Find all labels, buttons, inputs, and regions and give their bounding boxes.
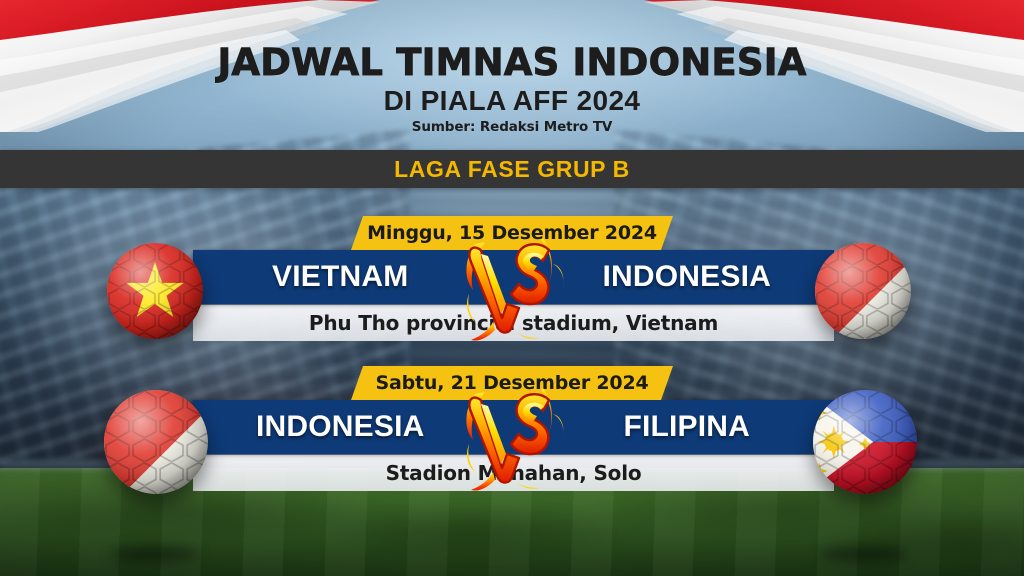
- match-venue-label: Stadion Manahan, Solo: [386, 461, 642, 485]
- page-subtitle: DI PIALA AFF 2024: [0, 85, 1024, 117]
- ball-shadow: [110, 546, 200, 562]
- ball-shadow: [818, 546, 908, 562]
- source-credit: Sumber: Redaksi Metro TV: [0, 119, 1024, 135]
- match-venue-label: Phu Tho provincial stadium, Vietnam: [309, 311, 718, 335]
- page-title: JADWAL TIMNAS INDONESIA: [0, 44, 1024, 82]
- match-date-chip: Minggu, 15 Desember 2024: [351, 216, 673, 250]
- home-team-name: VIETNAM: [193, 260, 514, 294]
- home-team-name: INDONESIA: [193, 410, 514, 444]
- phase-bar: LAGA FASE GRUP B: [0, 150, 1024, 188]
- vietnam-flag-ball: [107, 243, 203, 339]
- header-block: JADWAL TIMNAS INDONESIA DI PIALA AFF 202…: [0, 44, 1024, 135]
- indonesia-flag-ball: [815, 243, 911, 339]
- indonesia-flag-ball: [104, 390, 208, 494]
- match-venue-band: Phu Tho provincial stadium, Vietnam: [193, 304, 834, 341]
- match-date-label: Sabtu, 21 Desember 2024: [375, 372, 648, 394]
- broadcast-graphic: JADWAL TIMNAS INDONESIA DI PIALA AFF 202…: [0, 0, 1024, 576]
- away-team-name: FILIPINA: [514, 410, 835, 444]
- away-team-name: INDONESIA: [514, 260, 835, 294]
- phase-bar-label: LAGA FASE GRUP B: [394, 156, 630, 183]
- match-venue-band: Stadion Manahan, Solo: [193, 454, 834, 491]
- match-teams-bar: INDONESIA FILIPINA: [193, 400, 834, 454]
- match-date-label: Minggu, 15 Desember 2024: [367, 222, 657, 244]
- match-teams-bar: VIETNAM INDONESIA: [193, 250, 834, 304]
- philippines-flag-ball: [813, 390, 917, 494]
- match-date-chip: Sabtu, 21 Desember 2024: [351, 366, 673, 400]
